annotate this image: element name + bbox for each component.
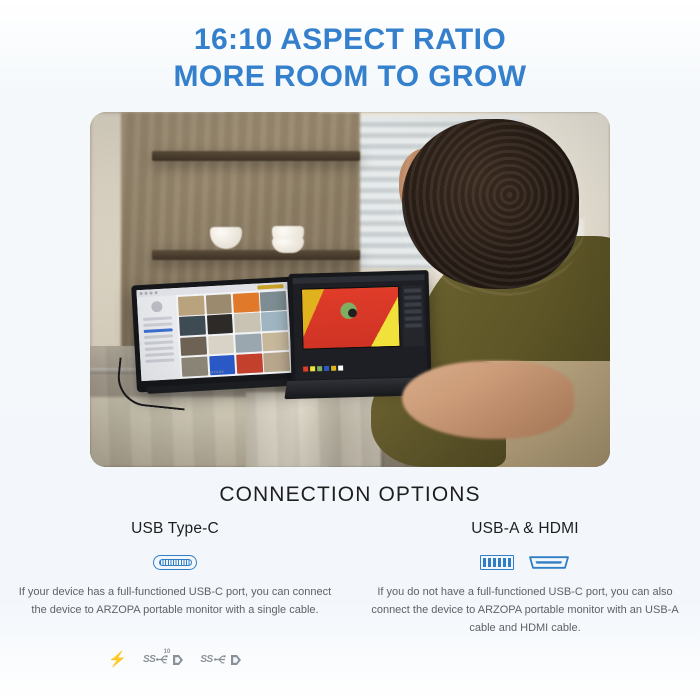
connection-options-title: CONNECTION OPTIONS <box>0 483 700 507</box>
superspeed-usb-logo: SS <box>200 654 241 666</box>
sidebar-selected-item <box>144 328 173 333</box>
photo-scene: arzopa <box>90 112 610 467</box>
connection-columns: USB Type-C If your device has a full-fun… <box>0 520 700 637</box>
connection-column-usb-a-hdmi: USB-A & HDMI If you do not have a full-f… <box>350 520 700 637</box>
headline-line-1: 16:10 ASPECT RATIO <box>194 23 506 56</box>
cabinet-front <box>90 397 329 467</box>
lifestyle-photo: arzopa <box>90 112 610 467</box>
stainless-appliance <box>246 392 381 467</box>
woman-hand <box>402 361 574 439</box>
hdmi-port-icon <box>528 555 570 570</box>
editor-panel <box>402 285 425 347</box>
artwork-canvas <box>301 286 401 350</box>
editor-toolbar <box>293 274 426 284</box>
laptop-screen <box>293 274 428 380</box>
woman-hair <box>402 119 579 289</box>
headline-line-2: MORE ROOM TO GROW <box>0 59 700 96</box>
column-title: USB-A & HDMI <box>368 520 682 538</box>
monitor-screen: arzopa <box>137 281 293 380</box>
monitor-bezel: arzopa <box>131 276 298 391</box>
lower-shelf <box>152 250 360 260</box>
connection-column-usb-c: USB Type-C If your device has a full-fun… <box>0 520 350 637</box>
portable-monitor: arzopa <box>131 276 298 391</box>
usb-c-port-icon <box>153 555 197 570</box>
laptop <box>289 270 432 384</box>
upper-shelf <box>152 151 360 161</box>
page-title: 16:10 ASPECT RATIO MORE ROOM TO GROW <box>0 0 700 95</box>
certification-logos: ⚡ SS 10 SS <box>0 652 350 667</box>
superspeed-label: SS <box>143 654 155 665</box>
thunderbolt-icon: ⚡ <box>108 652 127 667</box>
usb-trident-icon <box>214 654 229 665</box>
column-description: If your device has a full-functioned USB… <box>18 584 332 620</box>
displayport-icon <box>230 654 242 666</box>
usb-trident-icon: 10 <box>156 654 171 665</box>
avatar <box>151 300 163 312</box>
connector-icons <box>18 552 332 572</box>
connector-icons <box>368 552 682 572</box>
superspeed-usb-10gbps-logo: SS 10 <box>143 654 184 666</box>
displayport-icon <box>172 654 184 666</box>
column-description: If you do not have a full-functioned USB… <box>368 584 682 637</box>
column-title: USB Type-C <box>18 520 332 538</box>
color-swatches <box>303 365 343 371</box>
marketing-page: 16:10 ASPECT RATIO MORE ROOM TO GROW <box>0 0 700 700</box>
gallery-sidebar <box>137 288 181 381</box>
laptop-lid <box>289 270 432 384</box>
usb-a-port-icon <box>480 555 514 570</box>
superspeed-label: SS <box>200 654 212 665</box>
speed-label: 10 <box>164 649 171 655</box>
